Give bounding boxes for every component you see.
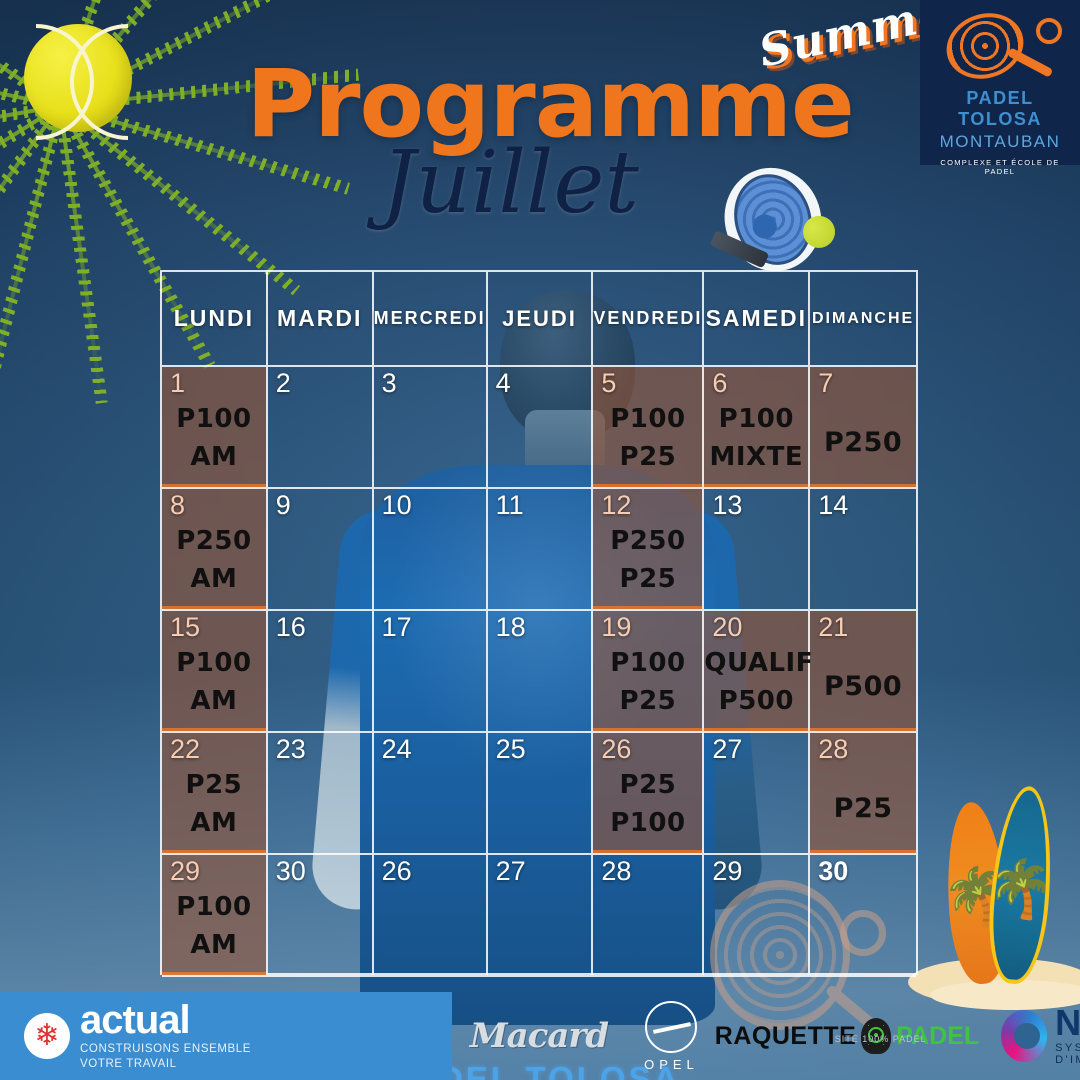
day-number: 5 — [601, 369, 616, 397]
event-label: P100 — [593, 805, 702, 843]
sponsor-novapage-tagline: SYSTÈMES D'IMPRESSION — [1055, 1042, 1080, 1066]
event-label: P250 — [593, 523, 702, 561]
event-label: P250 — [162, 523, 266, 561]
calendar-day-cell[interactable]: 30 — [268, 855, 374, 977]
sponsor-novapage-name-dark: Nova — [1055, 1002, 1080, 1043]
calendar-day-cell[interactable]: 29 — [704, 855, 810, 977]
day-events: P250P25 — [593, 523, 702, 598]
day-number: 3 — [382, 369, 397, 397]
calendar-day-cell[interactable]: 29P100AM — [162, 855, 268, 977]
sponsor-macard[interactable]: Macard — [470, 1016, 608, 1056]
brand-logo: PADEL TOLOSA MONTAUBAN COMPLEXE ET ÉCOLE… — [920, 0, 1080, 165]
calendar-day-cell[interactable]: 16 — [268, 611, 374, 733]
calendar-day-cell[interactable]: 26P25P100 — [593, 733, 704, 855]
event-label: P25 — [593, 767, 702, 805]
day-number: 25 — [496, 735, 526, 763]
day-number: 11 — [496, 491, 524, 519]
calendar-day-cell[interactable]: 4 — [488, 367, 594, 489]
calendar-day-cell[interactable]: 17 — [374, 611, 488, 733]
calendar-day-cell[interactable]: 5P100P25 — [593, 367, 704, 489]
day-number: 28 — [818, 735, 848, 763]
day-number: 30 — [276, 857, 306, 885]
weekday-header-dimanche: DIMANCHE — [810, 272, 916, 367]
day-number: 26 — [382, 857, 412, 885]
sponsor-footer: ❄ actual CONSTRUISONS ENSEMBLE VOTRE TRA… — [0, 985, 1080, 1080]
day-events: P100MIXTE — [704, 401, 808, 476]
day-number: 1 — [170, 369, 185, 397]
opel-logo-icon — [645, 1001, 697, 1053]
day-number: 16 — [276, 613, 306, 641]
day-events: P25AM — [162, 767, 266, 842]
day-number: 24 — [382, 735, 412, 763]
event-label: P25 — [593, 683, 702, 721]
day-events: QUALIFP500 — [704, 645, 808, 720]
day-number: 4 — [496, 369, 511, 397]
day-events: P100AM — [162, 889, 266, 964]
palm-tree-icon: 🌴 — [983, 858, 1057, 920]
day-number: 10 — [382, 491, 412, 519]
sponsor-actual-name: actual — [80, 1001, 251, 1039]
calendar-day-cell[interactable]: 28P25 — [810, 733, 916, 855]
event-label: P25 — [593, 439, 702, 477]
calendar-day-cell[interactable]: 7P250 — [810, 367, 916, 489]
novapage-logo-icon — [1001, 1010, 1047, 1062]
event-label: P100 — [162, 889, 266, 927]
day-number: 12 — [601, 491, 631, 519]
calendar-day-cell[interactable]: 9 — [268, 489, 374, 611]
calendar-day-cell[interactable]: 28 — [593, 855, 704, 977]
event-label: P100 — [704, 401, 808, 439]
event-label: P100 — [593, 645, 702, 683]
day-events: P25 — [810, 789, 916, 828]
event-label: AM — [162, 927, 266, 965]
day-events: P250 — [810, 423, 916, 462]
calendar-day-cell[interactable]: 21P500 — [810, 611, 916, 733]
event-label: P100 — [162, 645, 266, 683]
calendar-day-cell[interactable]: 12P250P25 — [593, 489, 704, 611]
weekday-header-jeudi: JEUDI — [488, 272, 594, 367]
sponsor-opel-label: OPEL — [644, 1057, 699, 1072]
day-number: 14 — [818, 491, 848, 519]
day-number: 15 — [170, 613, 200, 641]
calendar-day-cell[interactable]: 8P250AM — [162, 489, 268, 611]
calendar-day-cell[interactable]: 27 — [704, 733, 810, 855]
day-number: 27 — [496, 857, 526, 885]
calendar-day-cell[interactable]: 11 — [488, 489, 594, 611]
sponsor-actual-tagline-2: VOTRE TRAVAIL — [80, 1057, 251, 1071]
sponsor-actual-tagline-1: CONSTRUISONS ENSEMBLE — [80, 1042, 251, 1056]
day-number: 13 — [712, 491, 742, 519]
weekday-header-lundi: LUNDI — [162, 272, 268, 367]
calendar-day-cell[interactable]: 2 — [268, 367, 374, 489]
sponsor-raquette-padel[interactable]: RAQUETTE PADEL SITE 100% PADEL — [715, 1018, 979, 1054]
event-label: P500 — [704, 683, 808, 721]
day-number: 21 — [818, 613, 848, 641]
surfboard-teal: 🌴 — [983, 784, 1058, 986]
sponsor-novapage[interactable]: Novapage SYSTÈMES D'IMPRESSION — [1001, 1006, 1080, 1066]
day-events: P100P25 — [593, 401, 702, 476]
calendar-grid: LUNDIMARDIMERCREDIJEUDIVENDREDISAMEDIDIM… — [160, 270, 918, 975]
day-number: 30 — [818, 857, 848, 885]
day-number: 17 — [382, 613, 412, 641]
sponsor-raquette-tagline: SITE 100% PADEL — [835, 1034, 927, 1044]
calendar-day-cell[interactable]: 15P100AM — [162, 611, 268, 733]
day-events: P100AM — [162, 401, 266, 476]
event-label: P25 — [593, 561, 702, 599]
logo-name-line1: PADEL TOLOSA — [928, 88, 1072, 130]
day-number: 29 — [170, 857, 200, 885]
calendar-day-cell[interactable]: 23 — [268, 733, 374, 855]
day-number: 7 — [818, 369, 833, 397]
weekday-header-vendredi: VENDREDI — [593, 272, 704, 367]
event-label: AM — [162, 439, 266, 477]
event-label: AM — [162, 805, 266, 843]
day-events: P250AM — [162, 523, 266, 598]
day-number: 6 — [712, 369, 727, 397]
weekday-header-mercredi: MERCREDI — [374, 272, 488, 367]
day-events: P500 — [810, 667, 916, 706]
calendar-day-cell[interactable]: 1P100AM — [162, 367, 268, 489]
calendar-day-cell[interactable]: 18 — [488, 611, 594, 733]
clover-icon: ❄ — [24, 1013, 70, 1059]
calendar-day-cell[interactable]: 22P25AM — [162, 733, 268, 855]
calendar-day-cell[interactable]: 27 — [488, 855, 594, 977]
calendar-day-cell[interactable]: 24 — [374, 733, 488, 855]
logo-name-line2: MONTAUBAN — [928, 132, 1072, 152]
surfboards-decoration: 🌴 🌴 — [920, 780, 1080, 1010]
event-label: P500 — [810, 667, 916, 706]
event-label: P250 — [810, 423, 916, 462]
event-label: P100 — [593, 401, 702, 439]
day-number: 23 — [276, 735, 306, 763]
calendar-day-cell[interactable]: 30 — [810, 855, 916, 977]
weekday-header-samedi: SAMEDI — [704, 272, 810, 367]
calendar-day-cell[interactable]: 20QUALIFP500 — [704, 611, 810, 733]
day-number: 8 — [170, 491, 185, 519]
day-number: 27 — [712, 735, 742, 763]
calendar-day-cell[interactable]: 25 — [488, 733, 594, 855]
calendar-day-cell[interactable]: 19P100P25 — [593, 611, 704, 733]
sponsor-actual[interactable]: ❄ actual CONSTRUISONS ENSEMBLE VOTRE TRA… — [0, 992, 452, 1080]
event-label: MIXTE — [704, 439, 808, 477]
day-number: 26 — [601, 735, 631, 763]
weekday-header-mardi: MARDI — [268, 272, 374, 367]
sponsor-opel[interactable]: OPEL — [644, 1001, 699, 1072]
calendar-day-cell[interactable]: 26 — [374, 855, 488, 977]
day-number: 19 — [601, 613, 631, 641]
tennis-ball-icon — [24, 24, 132, 132]
event-label: AM — [162, 561, 266, 599]
event-label: AM — [162, 683, 266, 721]
event-label: P100 — [162, 401, 266, 439]
day-number: 18 — [496, 613, 526, 641]
calendar-day-cell[interactable]: 10 — [374, 489, 488, 611]
calendar-day-cell[interactable]: 6P100MIXTE — [704, 367, 810, 489]
day-number: 2 — [276, 369, 291, 397]
logo-tagline: COMPLEXE ET ÉCOLE DE PADEL — [928, 158, 1072, 176]
day-events: P100AM — [162, 645, 266, 720]
event-label: QUALIF — [704, 645, 808, 683]
calendar-day-cell[interactable]: 13 — [704, 489, 810, 611]
day-events: P100P25 — [593, 645, 702, 720]
day-number: 20 — [712, 613, 742, 641]
event-label: P25 — [810, 789, 916, 828]
day-number: 29 — [712, 857, 742, 885]
day-number: 22 — [170, 735, 200, 763]
event-label: P25 — [162, 767, 266, 805]
calendar-day-cell[interactable]: 3 — [374, 367, 488, 489]
day-number: 28 — [601, 857, 631, 885]
day-events: P25P100 — [593, 767, 702, 842]
calendar-day-cell[interactable]: 14 — [810, 489, 916, 611]
logo-racket-icon — [928, 10, 1072, 88]
day-number: 9 — [276, 491, 291, 519]
